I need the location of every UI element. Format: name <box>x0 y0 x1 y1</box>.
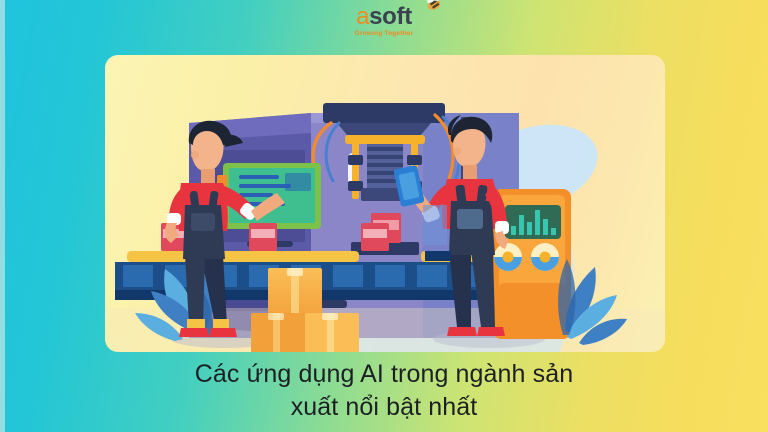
gauge-right <box>531 243 559 271</box>
page-title: Các ứng dụng AI trong ngành sản xuất nổi… <box>0 358 768 424</box>
side-cabinet <box>423 205 451 261</box>
logo-wordmark: asoft <box>356 4 412 29</box>
logo-tagline: Growing Together <box>355 30 414 38</box>
gauge-left <box>494 243 522 271</box>
product-can <box>361 223 389 251</box>
brand-header: asoft Growing Together <box>0 0 768 50</box>
caption-line-2: xuất nổi bật nhất <box>0 391 768 424</box>
logo-letters-soft: soft <box>369 3 412 30</box>
asoft-logo[interactable]: asoft Growing Together <box>328 0 440 44</box>
logo-letter-a: a <box>356 3 369 30</box>
illustration-card <box>105 55 665 352</box>
ai-manufacturing-illustration <box>105 55 665 352</box>
poster-canvas: asoft Growing Together <box>0 0 768 432</box>
caption-line-1: Các ứng dụng AI trong ngành sản <box>0 358 768 391</box>
product-can <box>249 223 277 251</box>
bee-icon <box>422 0 444 14</box>
